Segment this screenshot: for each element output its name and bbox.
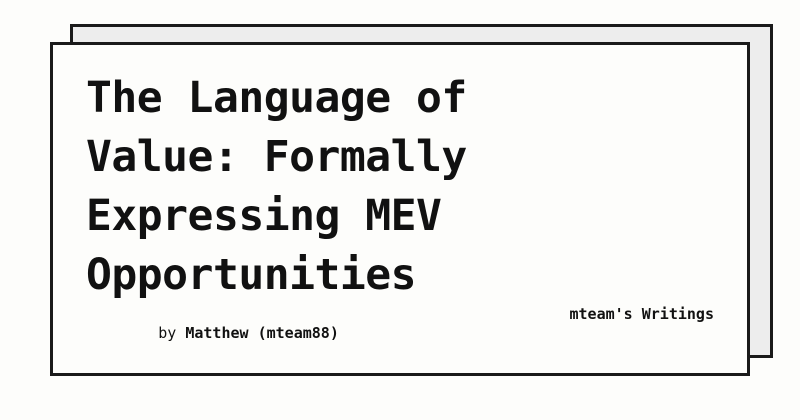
author-name: Matthew (mteam88) — [185, 324, 339, 342]
byline-prefix: by — [158, 324, 185, 342]
page-title: The Language of Value: Formally Expressi… — [86, 69, 714, 305]
byline: by Matthew (mteam88) — [86, 305, 339, 362]
cover-card: The Language of Value: Formally Expressi… — [0, 0, 800, 420]
title-line-3: Expressing MEV — [86, 187, 714, 246]
title-line-1: The Language of — [86, 69, 714, 128]
article-cover-card: The Language of Value: Formally Expressi… — [50, 42, 750, 376]
title-line-4: Opportunities — [86, 246, 714, 305]
cover-footer: by Matthew (mteam88) mteam's Writings — [86, 305, 714, 364]
title-line-2: Value: Formally — [86, 128, 714, 187]
publication-name: mteam's Writings — [570, 305, 715, 324]
